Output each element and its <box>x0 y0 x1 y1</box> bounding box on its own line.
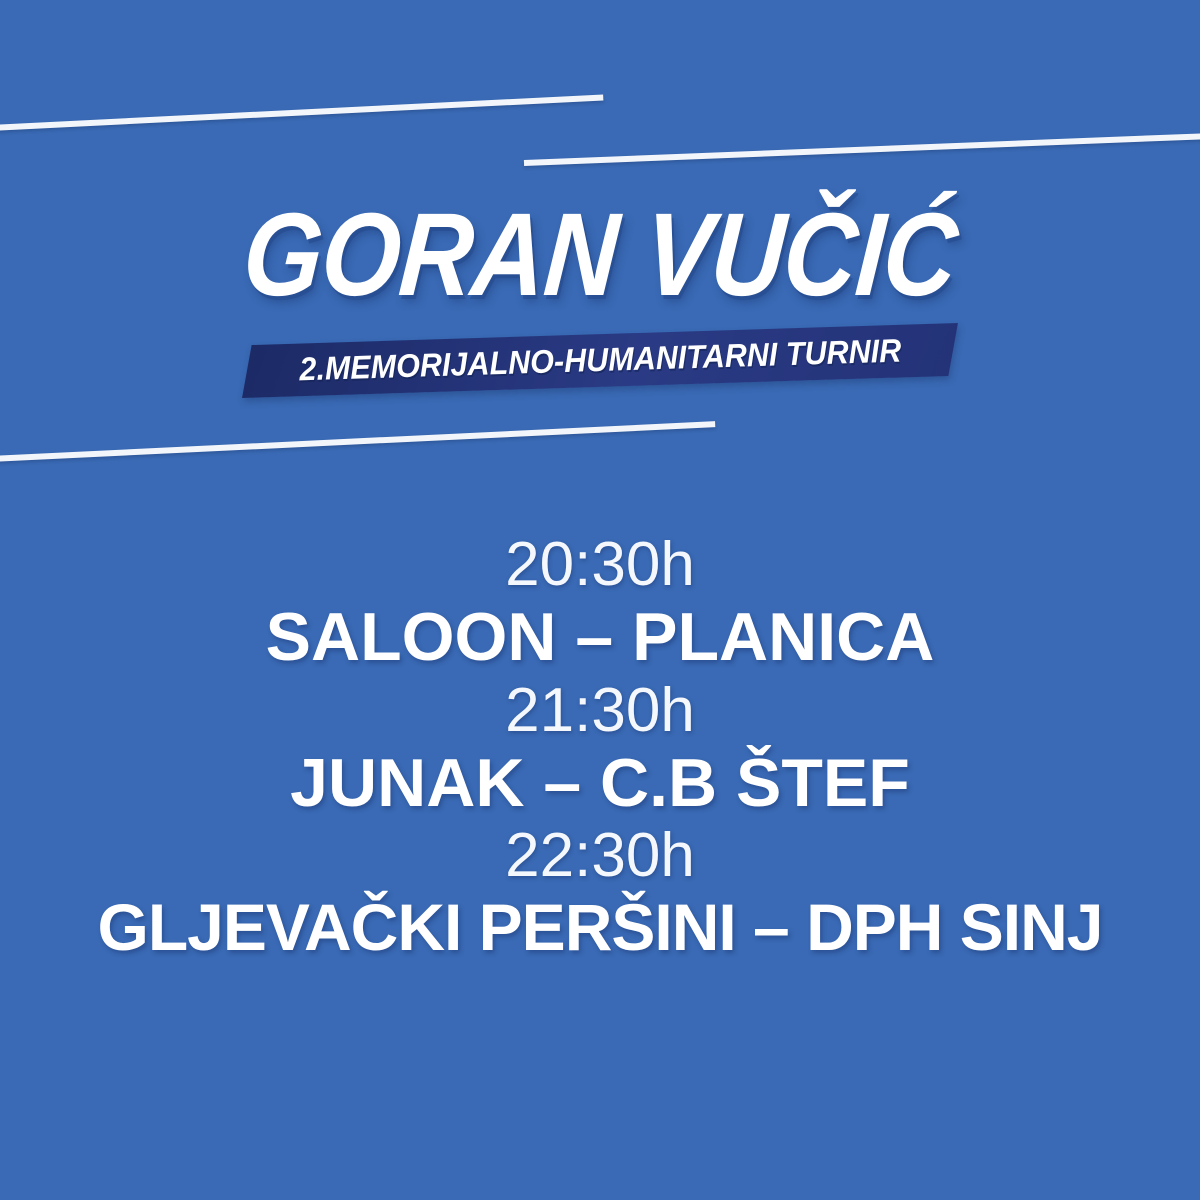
match-schedule: 20:30h SALOON – PLANICA 21:30h JUNAK – C… <box>0 530 1200 965</box>
subtitle-banner-wrapper: 2.MEMORIJALNO-HUMANITARNI TURNIR <box>0 334 1200 387</box>
match-teams: SALOON – PLANICA <box>0 599 1200 675</box>
match-row: 20:30h SALOON – PLANICA <box>0 530 1200 676</box>
match-row: 21:30h JUNAK – C.B ŠTEF <box>0 676 1200 822</box>
page-title: GORAN VUČIĆ <box>80 196 1121 314</box>
diagonal-stripe-middle-left <box>0 421 715 462</box>
title-block: GORAN VUČIĆ <box>0 196 1200 314</box>
match-teams: GLJEVAČKI PERŠINI – DPH SINJ <box>0 891 1200 965</box>
diagonal-stripe-top-left <box>0 94 603 131</box>
diagonal-stripe-top-right <box>524 133 1200 166</box>
match-row: 22:30h GLJEVAČKI PERŠINI – DPH SINJ <box>0 821 1200 964</box>
subtitle-banner: 2.MEMORIJALNO-HUMANITARNI TURNIR <box>242 323 958 398</box>
match-time: 20:30h <box>0 530 1200 599</box>
tournament-poster: GORAN VUČIĆ 2.MEMORIJALNO-HUMANITARNI TU… <box>0 0 1200 1200</box>
match-teams: JUNAK – C.B ŠTEF <box>0 745 1200 821</box>
match-time: 21:30h <box>0 676 1200 745</box>
subtitle-text: 2.MEMORIJALNO-HUMANITARNI TURNIR <box>299 334 902 386</box>
match-time: 22:30h <box>0 821 1200 890</box>
